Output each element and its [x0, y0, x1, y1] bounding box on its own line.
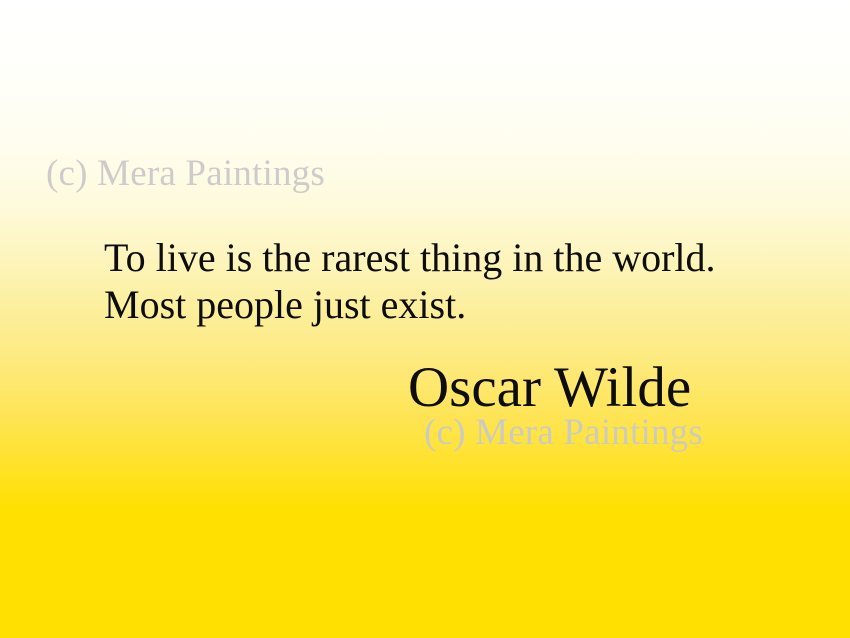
quote-line-1: To live is the rarest thing in the world… — [104, 234, 804, 281]
quote-text: To live is the rarest thing in the world… — [104, 234, 804, 328]
quote-author: Oscar Wilde — [408, 357, 691, 419]
quote-line-2: Most people just exist. — [104, 281, 804, 328]
watermark-top: (c) Mera Paintings — [46, 153, 325, 195]
watermark-bottom: (c) Mera Paintings — [424, 412, 703, 454]
quote-slide: (c) Mera Paintings To live is the rarest… — [0, 0, 850, 638]
